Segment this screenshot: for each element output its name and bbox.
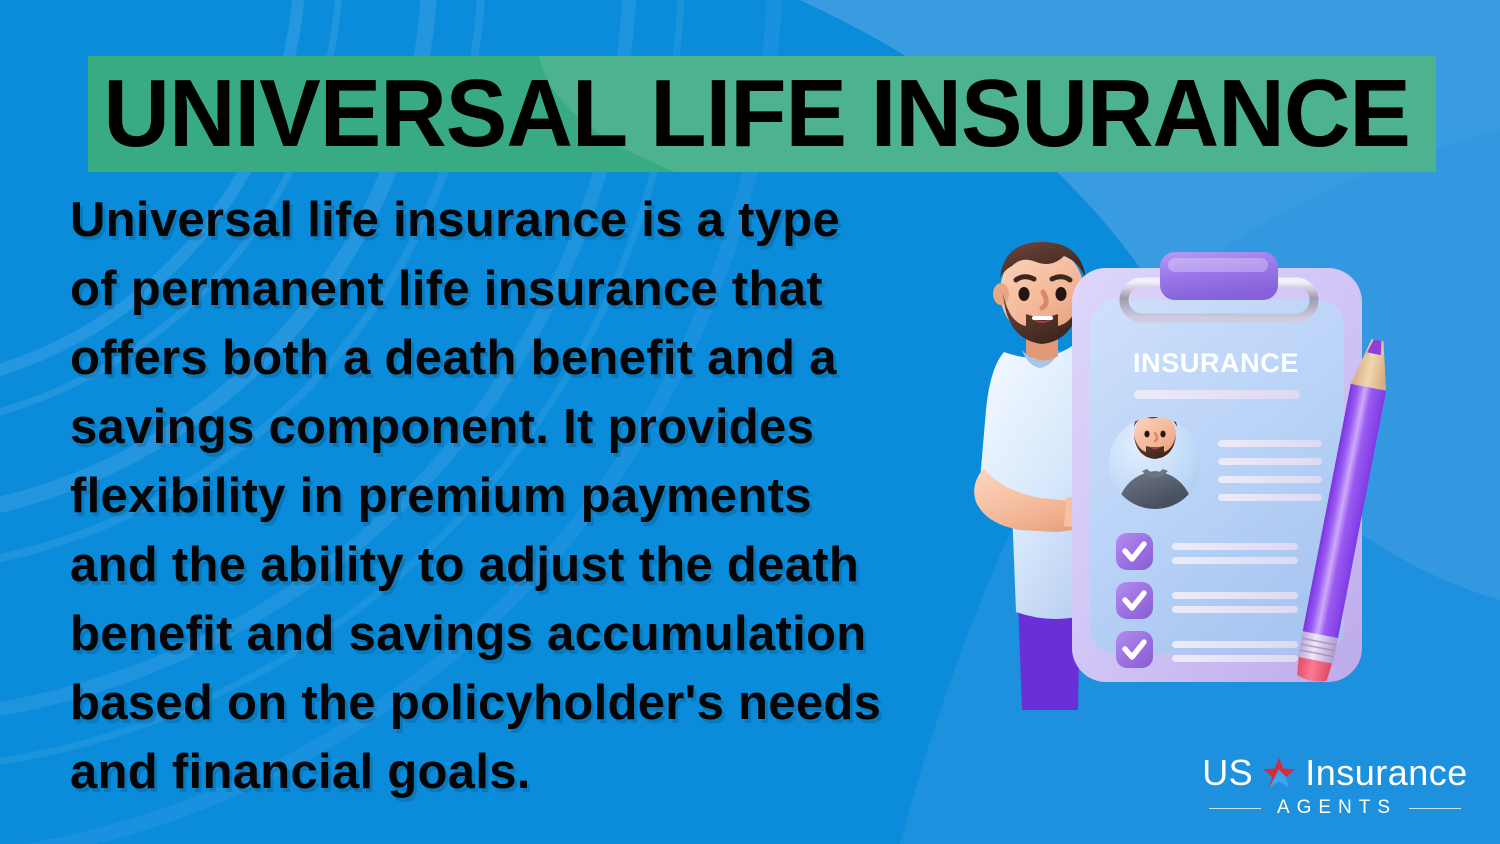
body-paragraph: Universal life insurance is a type of pe… (70, 186, 990, 807)
logo-rule-left (1209, 808, 1261, 809)
star-icon (1262, 757, 1296, 789)
logo-top-row: US Insurance (1200, 752, 1470, 794)
character-eye-right (1056, 287, 1067, 301)
illustration-man-with-clipboard: INSURANCE (960, 240, 1480, 710)
page-title: UNIVERSAL LIFE INSURANCE (88, 66, 1410, 162)
clipboard-clip-highlight (1168, 258, 1268, 272)
character-eye-left (1019, 287, 1030, 301)
checklist-line (1172, 592, 1298, 599)
checklist-line (1172, 557, 1298, 564)
title-banner: UNIVERSAL LIFE INSURANCE (88, 56, 1436, 172)
logo-bottom-row: AGENTS (1200, 798, 1470, 818)
clipboard-heading: INSURANCE (1133, 348, 1299, 378)
brand-logo: US Insurance AGENTS (1200, 752, 1470, 826)
checkbox (1116, 533, 1153, 570)
checklist-line (1172, 655, 1298, 662)
checklist-line (1172, 606, 1298, 613)
logo-insurance-text: Insurance (1305, 754, 1468, 792)
logo-rule-right (1409, 808, 1461, 809)
clipboard-divider (1134, 390, 1300, 399)
checkbox (1116, 631, 1153, 668)
logo-us-text: US (1202, 754, 1253, 792)
avatar-eye-left (1144, 431, 1149, 438)
checklist-line (1172, 641, 1298, 648)
character-ear-left (993, 283, 1009, 305)
infographic-canvas: UNIVERSAL LIFE INSURANCE Universal life … (0, 0, 1500, 844)
avatar-eye-right (1160, 431, 1165, 438)
checklist-line (1172, 543, 1298, 550)
logo-agents-text: AGENTS (1273, 798, 1397, 818)
checkbox (1116, 582, 1153, 619)
character-teeth (1032, 316, 1053, 320)
